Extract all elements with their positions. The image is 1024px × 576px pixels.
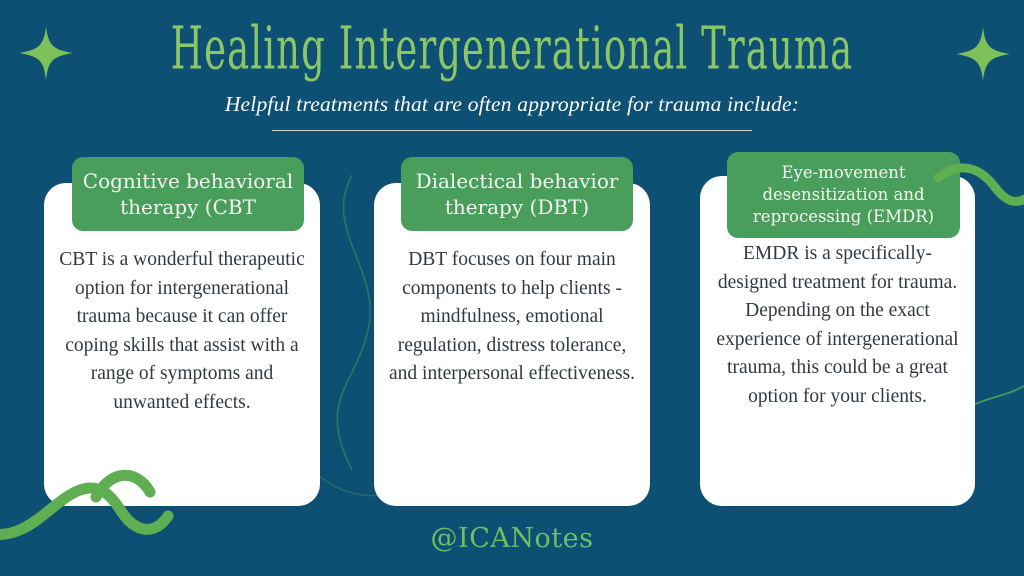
page-subtitle: Helpful treatments that are often approp… [0,92,1024,117]
slide-canvas: Healing Intergenerational Trauma Helpful… [0,0,1024,576]
card-heading-badge: Dialectical behavior therapy (DBT) [401,157,633,231]
card-heading-text: Dialectical behavior therapy (DBT) [401,168,633,220]
card-body-text: EMDR is a specifically-designed treatmen… [700,240,975,412]
thin-wave-left-icon [337,175,370,470]
sparkle-icon [18,25,74,81]
card-body-text: CBT is a wonderful therapeutic option fo… [44,246,320,418]
footer-handle: @ICANotes [0,523,1024,554]
card-heading-text: Eye-movement desensitization and reproce… [727,162,960,228]
title-divider [272,130,752,131]
treatment-card: DBT focuses on four main components to h… [374,183,650,506]
sparkle-icon [955,26,1011,82]
card-heading-badge: Eye-movement desensitization and reproce… [727,152,960,238]
card-body-text: DBT focuses on four main components to h… [374,246,650,389]
card-heading-badge: Cognitive behavioral therapy (CBT [72,157,304,231]
page-title: Healing Intergenerational Trauma [133,14,891,82]
card-heading-text: Cognitive behavioral therapy (CBT [72,168,304,220]
treatment-card: CBT is a wonderful therapeutic option fo… [44,183,320,506]
